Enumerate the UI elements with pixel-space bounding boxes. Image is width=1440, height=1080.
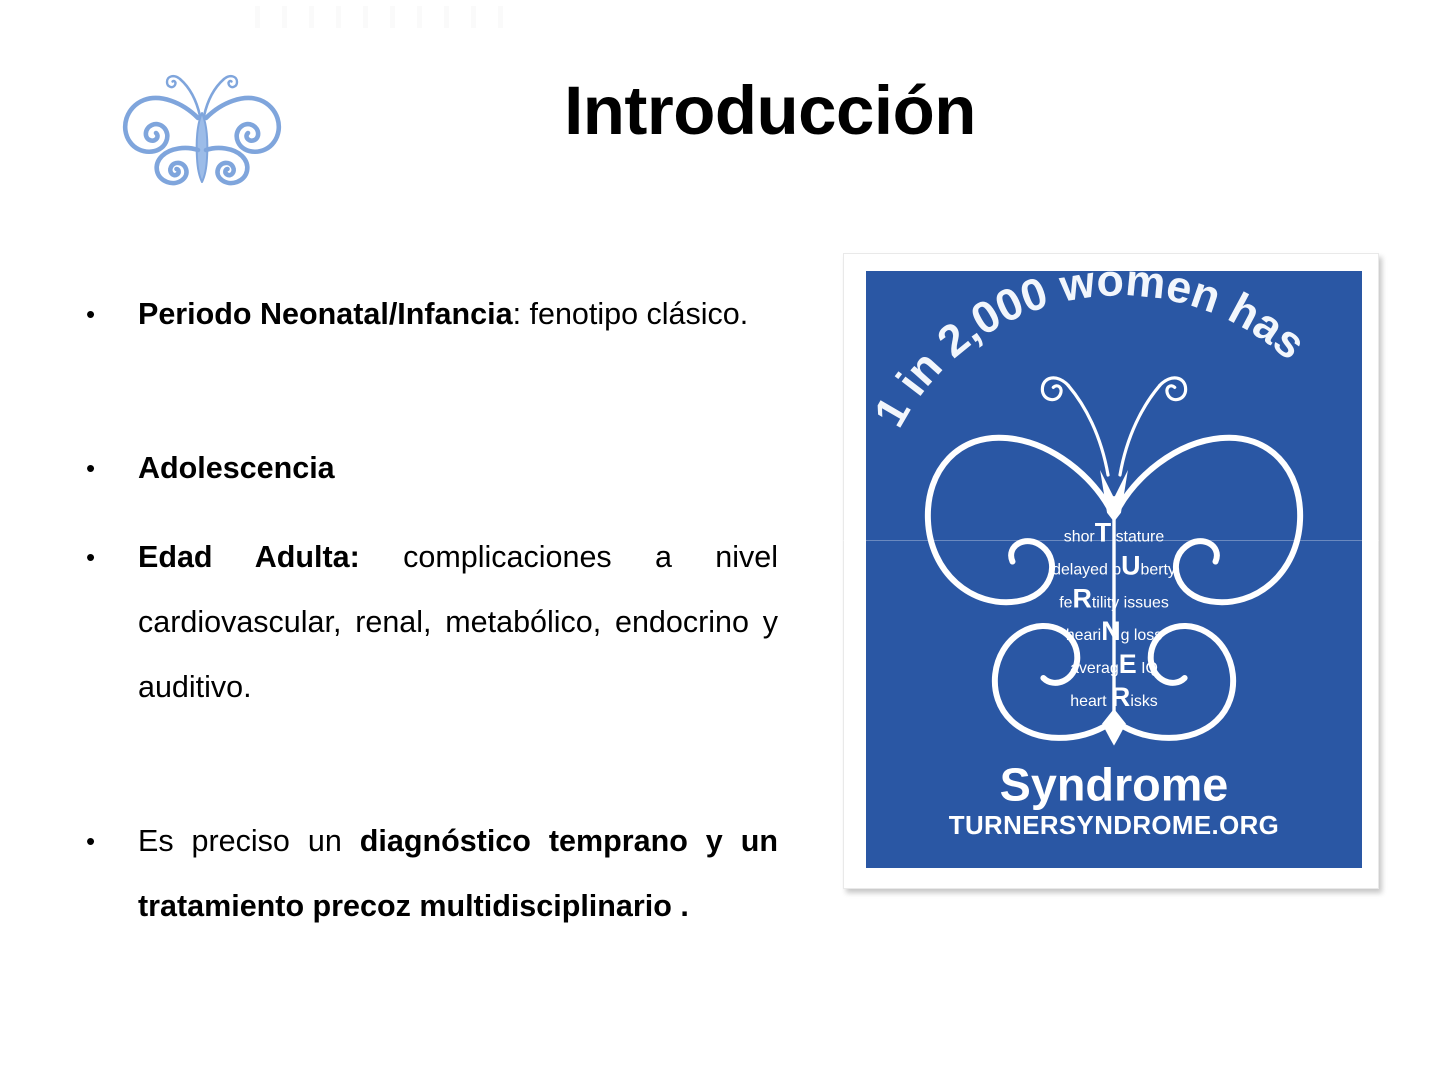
butterfly-icon xyxy=(112,58,292,193)
list-item: • Periodo Neonatal/Infancia: fenotipo cl… xyxy=(78,282,778,412)
svg-text:heariNg loss: heariNg loss xyxy=(1066,616,1162,646)
svg-text:1 in 2,000 women has: 1 in 2,000 women has xyxy=(866,271,1315,435)
poster-canvas: 1 in 2,000 women has xyxy=(866,271,1362,868)
list-item-text: Es preciso un diagnóstico temprano y un … xyxy=(138,809,778,939)
svg-text:TURNERSYNDROME.ORG: TURNERSYNDROME.ORG xyxy=(949,812,1279,840)
list-item-text: Periodo Neonatal/Infancia: fenotipo clás… xyxy=(138,282,778,347)
bullet-list: • Periodo Neonatal/Infancia: fenotipo cl… xyxy=(78,282,778,1004)
poster-graphic: 1 in 2,000 women has xyxy=(866,271,1362,868)
list-item: • Adolescencia xyxy=(78,436,778,501)
list-item-separator: : xyxy=(513,297,521,331)
list-item-lead: Adolescencia xyxy=(138,451,335,485)
list-item-text: Adolescencia xyxy=(138,436,778,501)
bullet-marker-icon: • xyxy=(86,809,106,874)
svg-text:heart Risks: heart Risks xyxy=(1070,682,1158,712)
turner-syndrome-poster: 1 in 2,000 women has xyxy=(843,253,1379,889)
list-item: • Edad Adulta: complicaciones a nivel ca… xyxy=(78,525,778,785)
svg-text:Syndrome: Syndrome xyxy=(1000,758,1229,810)
page-title: Introducción xyxy=(330,76,1210,145)
bullet-marker-icon: • xyxy=(86,436,106,501)
list-item: • Es preciso un diagnóstico temprano y u… xyxy=(78,809,778,1004)
slide-root: Introducción • Periodo Neonatal/Infancia… xyxy=(0,0,1440,1080)
bullet-marker-icon: • xyxy=(86,525,106,590)
list-item-lead-plain: Es preciso un xyxy=(138,824,360,858)
slide-header: Introducción xyxy=(0,0,1440,230)
list-item-body: fenotipo clásico. xyxy=(521,297,748,331)
list-item-text: Edad Adulta: complicaciones a nivel card… xyxy=(138,525,778,720)
list-item-lead: Periodo Neonatal/Infancia xyxy=(138,297,513,331)
bullet-marker-icon: • xyxy=(86,282,106,347)
list-item-lead: Edad Adulta: xyxy=(138,540,360,574)
